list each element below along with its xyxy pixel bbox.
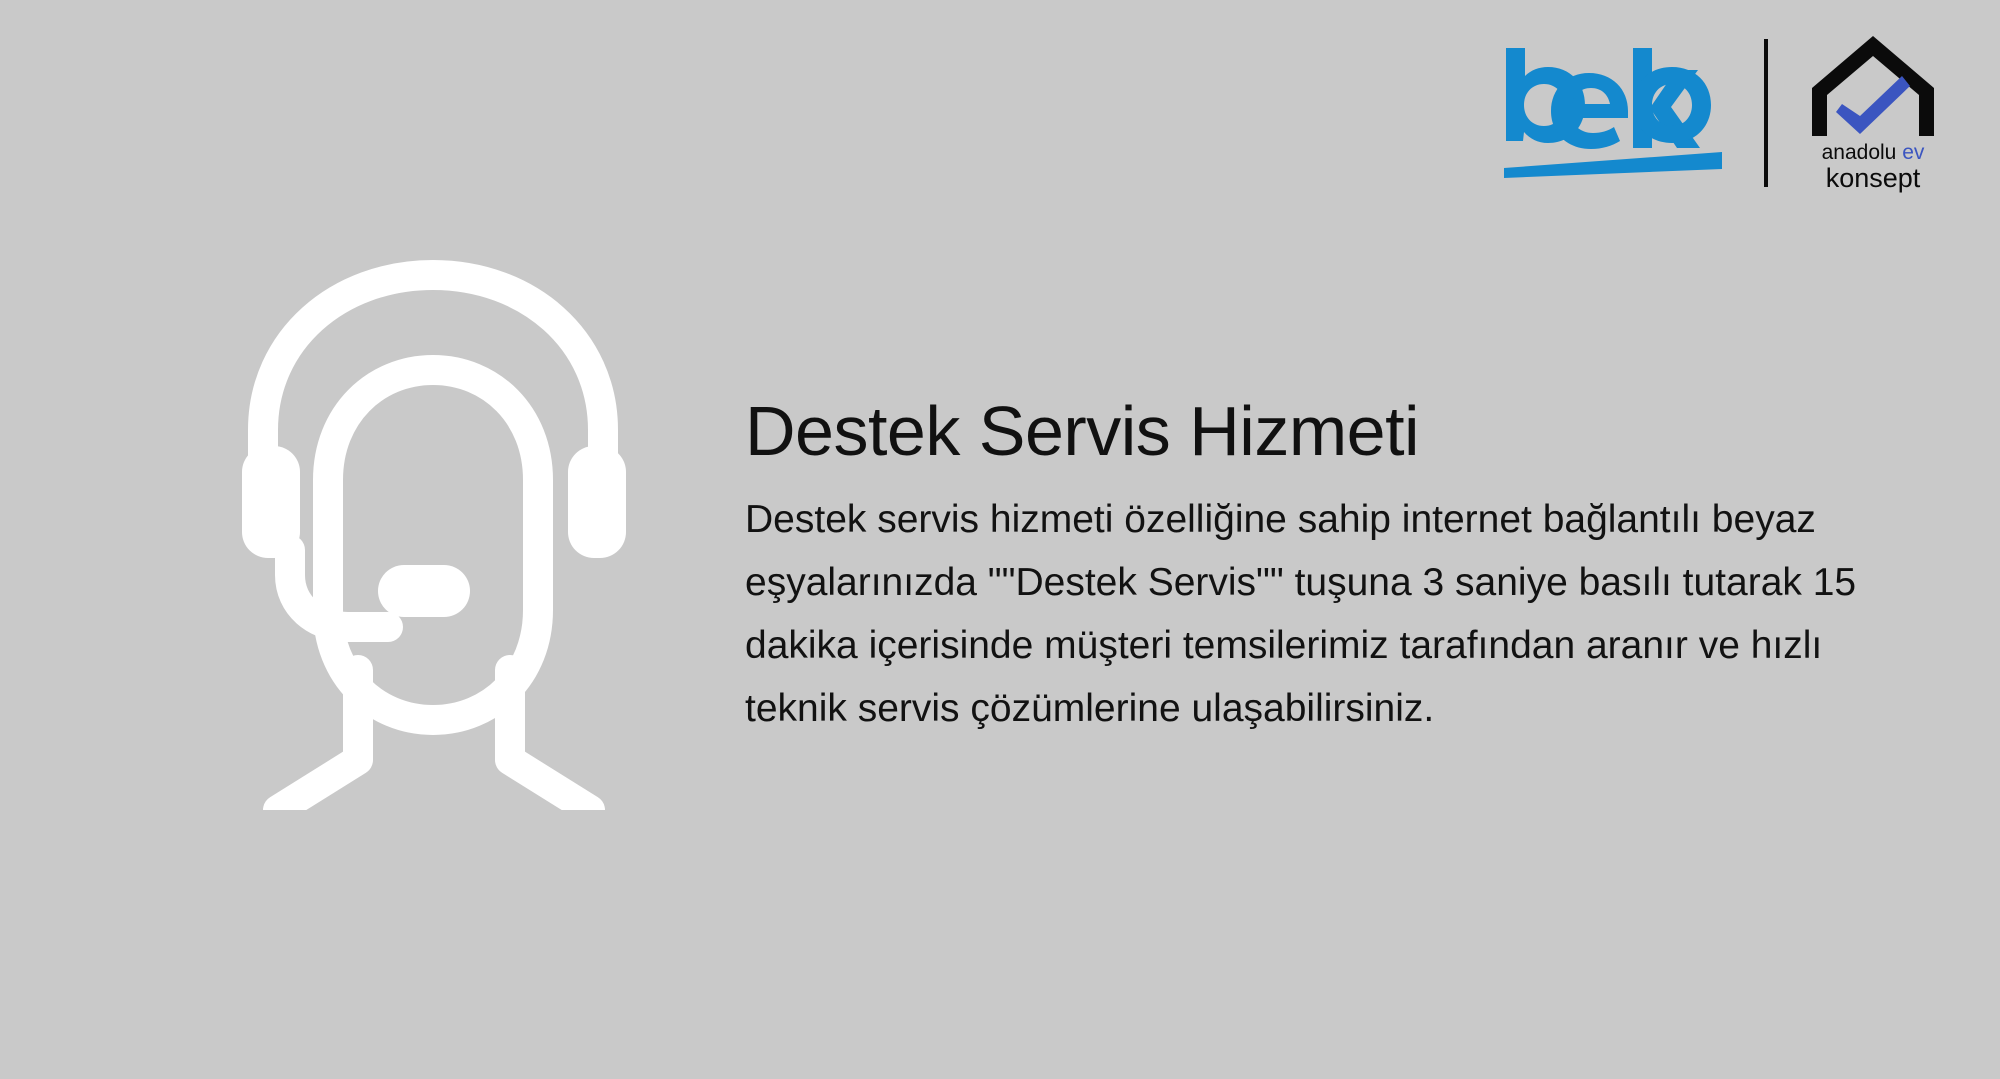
brand-logo-bar: anadolu ev konsept <box>1502 28 1938 198</box>
left-earcup <box>242 446 300 558</box>
anadolu-text: anadolu ev <box>1822 141 1925 164</box>
ev-text: ev <box>1902 141 1925 164</box>
right-earcup <box>568 446 626 558</box>
beko-logo <box>1502 48 1724 178</box>
anadolu-ev-konsept-logo: anadolu ev konsept <box>1808 32 1938 194</box>
description-paragraph: Destek servis hizmeti özelliğine sahip i… <box>745 488 1923 740</box>
promo-banner: anadolu ev konsept <box>0 0 2000 1079</box>
page-title: Destek Servis Hizmeti <box>745 392 1925 470</box>
support-agent-headset-illustration <box>218 250 648 810</box>
logo-divider <box>1764 39 1768 187</box>
support-agent-headset-icon <box>218 250 648 810</box>
text-content: Destek Servis Hizmeti Destek servis hizm… <box>745 392 1925 740</box>
microphone-icon <box>378 565 470 617</box>
checkmark-icon <box>1836 76 1910 134</box>
konsept-text: konsept <box>1826 163 1921 193</box>
